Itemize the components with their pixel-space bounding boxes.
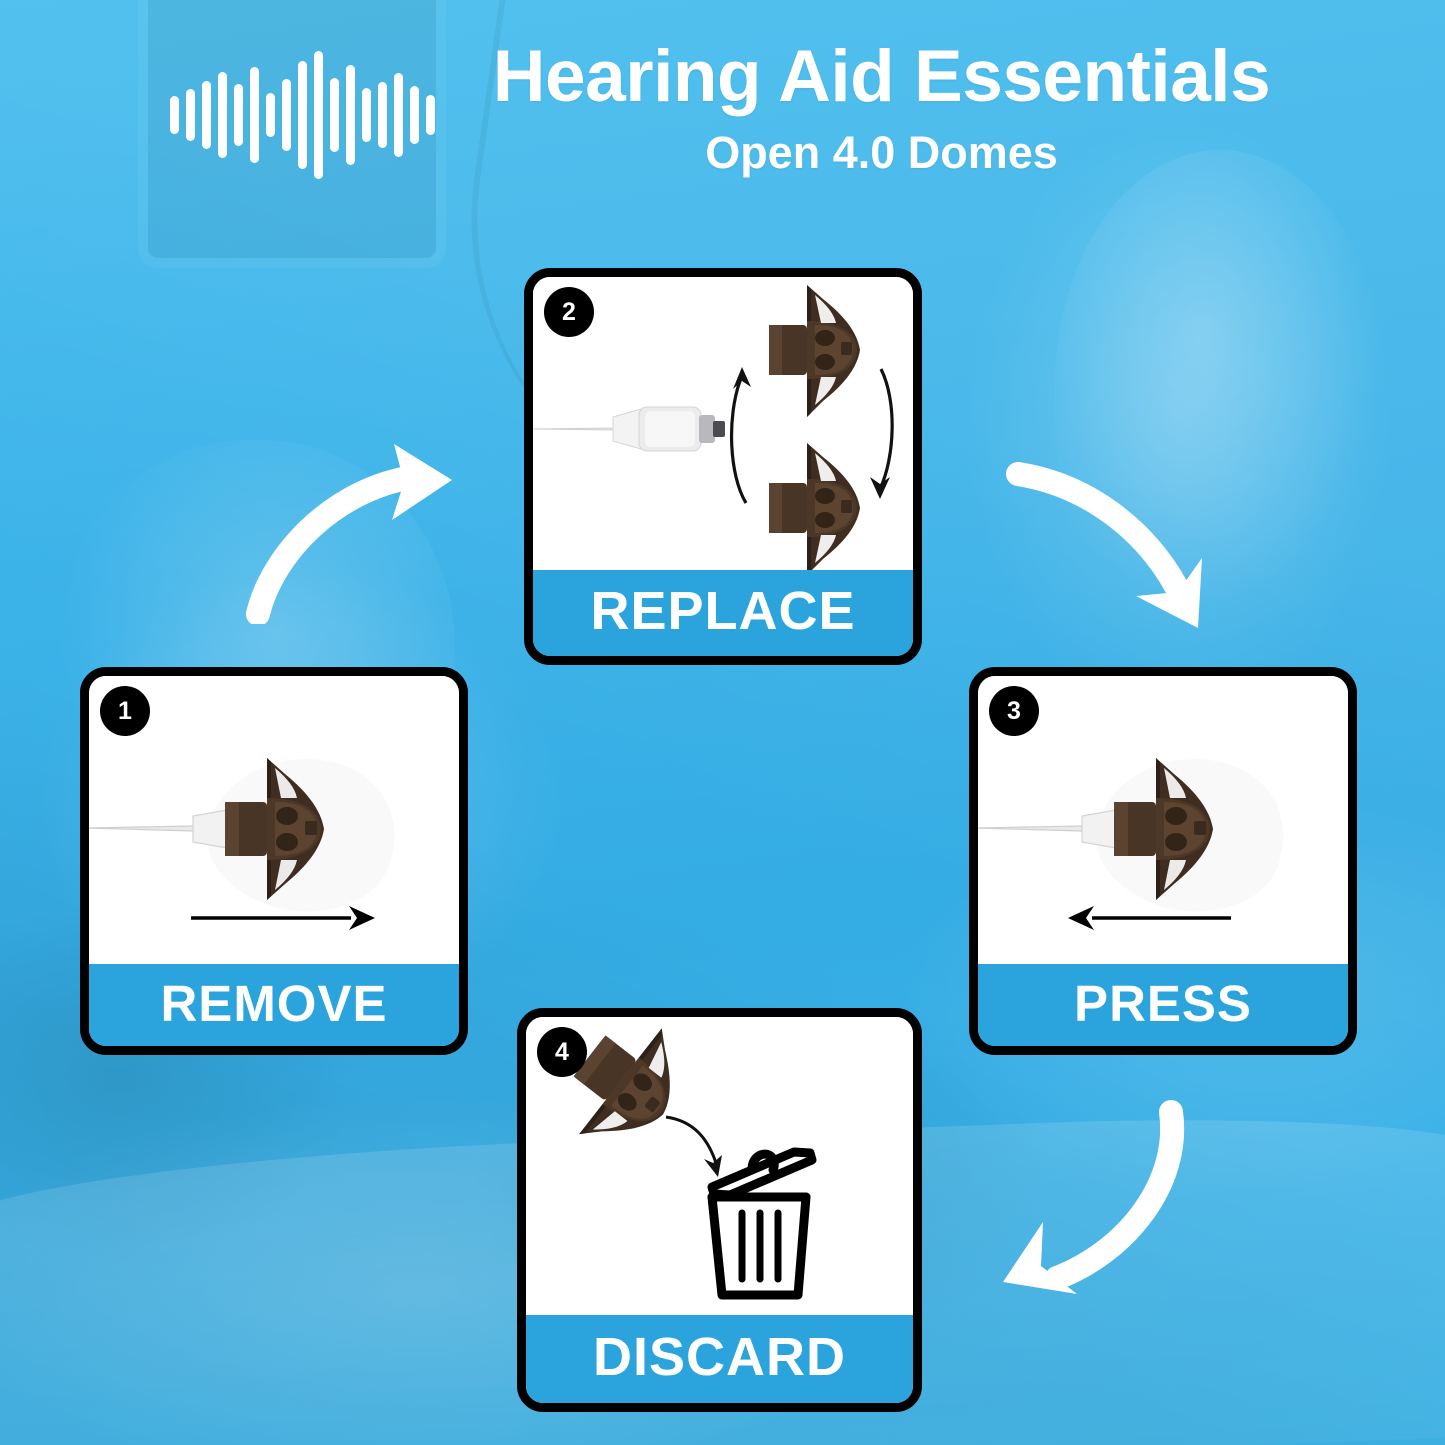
- curved-arrow-to-bin-icon: [666, 1117, 722, 1177]
- soundwave-bar-6: [250, 67, 259, 163]
- soundwave-bar-12: [346, 65, 355, 165]
- infographic-canvas: Hearing Aid Essentials Open 4.0 Domes 1: [0, 0, 1445, 1445]
- soundwave-bar-3: [202, 81, 211, 149]
- soundwave-bar-1: [170, 96, 179, 134]
- page-subtitle: Open 4.0 Domes: [705, 127, 1058, 179]
- direction-arrow-left-icon: [1068, 898, 1233, 938]
- step-label-replace: REPLACE: [533, 570, 913, 656]
- step-number-badge: 1: [100, 686, 150, 736]
- curved-arrow-up-icon: [732, 367, 751, 503]
- step-label-press: PRESS: [978, 964, 1348, 1046]
- step-label-discard: DISCARD: [526, 1315, 913, 1403]
- step-card-remove[interactable]: 1: [80, 667, 468, 1055]
- trash-bin-icon: [712, 1152, 812, 1295]
- flow-arrow-1-to-2: [244, 434, 494, 624]
- step-card-replace[interactable]: 2: [524, 268, 922, 665]
- soundwave-bar-4: [218, 72, 227, 158]
- step-number-badge: 2: [544, 287, 594, 337]
- header: Hearing Aid Essentials Open 4.0 Domes: [0, 0, 1445, 230]
- direction-arrow-right-icon: [189, 898, 379, 938]
- step-3-illustration: 3: [978, 676, 1348, 964]
- flow-arrow-3-to-4: [985, 1098, 1230, 1308]
- soundwave-bar-14: [378, 82, 387, 148]
- soundwave-bar-5: [234, 84, 243, 146]
- step-2-illustration: 2: [533, 277, 913, 570]
- soundwave-bar-11: [330, 78, 339, 152]
- step-label-remove: REMOVE: [89, 964, 459, 1046]
- step-number-badge: 4: [537, 1027, 587, 1077]
- title-block: Hearing Aid Essentials Open 4.0 Domes: [388, 39, 1375, 179]
- step-1-illustration: 1: [89, 676, 459, 964]
- flow-arrow-2-to-3: [1002, 446, 1252, 636]
- soundwave-bar-8: [282, 79, 291, 151]
- soundwave-bar-2: [186, 89, 195, 141]
- soundwave-bar-13: [362, 88, 371, 142]
- step-number-badge: 3: [989, 686, 1039, 736]
- soundwave-bar-9: [298, 61, 307, 169]
- step-card-press[interactable]: 3 PRESS: [969, 667, 1357, 1055]
- soundwave-bar-10: [314, 51, 323, 179]
- curved-arrow-down-icon: [870, 369, 892, 499]
- soundwave-bar-7: [266, 93, 275, 137]
- brand-logo: [186, 40, 418, 190]
- page-title: Hearing Aid Essentials: [493, 39, 1270, 115]
- step-card-discard[interactable]: 4: [517, 1008, 922, 1412]
- step-4-illustration: 4: [526, 1017, 913, 1315]
